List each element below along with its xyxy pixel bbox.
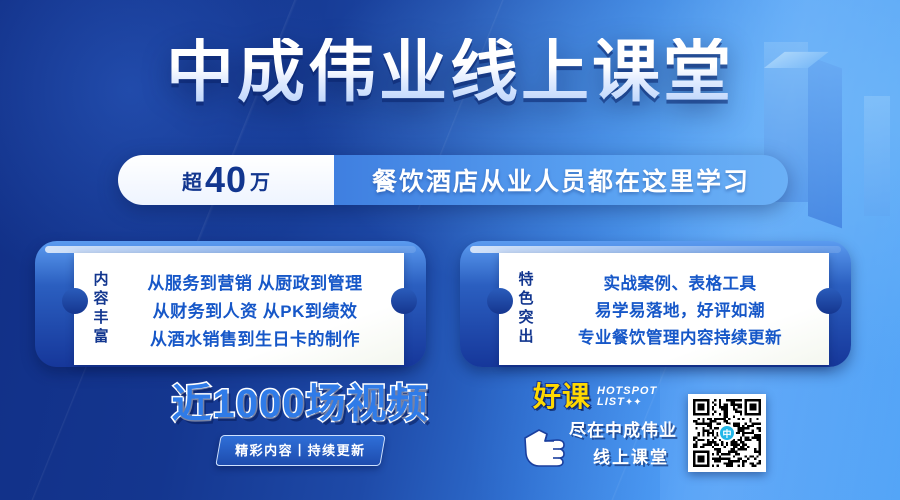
logo-line-2: 尽在中成伟业 (569, 416, 677, 441)
card-line: 从财务到人资 从PK到绩效 (153, 297, 358, 322)
tagline-pill: 精彩内容丨持续更新 (215, 435, 385, 466)
logo-line-3: 线上课堂 (593, 443, 669, 468)
card-label-char: 特 (518, 272, 533, 289)
card-label-char: 容 (93, 291, 108, 308)
card-lines: 实战案例、表格工具 易学易落地，好评如潮 专业餐饮管理内容持续更新 (539, 270, 821, 348)
card-label-char: 突 (518, 310, 533, 327)
student-count-pill: 超 40 万 (118, 155, 334, 205)
card-line: 专业餐饮管理内容持续更新 (578, 324, 782, 348)
count-unit: 万 (250, 166, 270, 195)
brand-latin-line1: HOTSPOT (597, 385, 657, 397)
qr-code[interactable]: 中 (688, 394, 766, 472)
tagline-text: 精彩内容丨持续更新 (235, 440, 366, 459)
card-label-char: 富 (93, 329, 108, 346)
subtitle-text: 餐饮酒店从业人员都在这里学习 (372, 162, 750, 198)
card-label-char: 出 (518, 329, 533, 346)
sparkle-icon: ✦✦ (625, 397, 642, 408)
promo-banner: 中成伟业线上课堂 超 40 万 餐饮酒店从业人员都在这里学习 内 容 丰 富 从… (0, 0, 900, 500)
brand-latin: HOTSPOT LIST✦✦ (597, 386, 657, 411)
qr-center-logo: 中 (718, 424, 736, 442)
brand-text: 好课 (533, 383, 591, 411)
feature-card-content: 内 容 丰 富 从服务到营销 从厨政到管理 从财务到人资 从PK到绩效 从酒水销… (38, 245, 423, 367)
subtitle-bar: 超 40 万 餐饮酒店从业人员都在这里学习 (118, 155, 788, 205)
brand-latin-line2: LIST (597, 396, 625, 408)
decorative-3d-block (864, 96, 890, 216)
card-label-char: 色 (518, 291, 533, 308)
card-label-char: 丰 (93, 310, 108, 327)
card-line: 从服务到营销 从厨政到管理 (147, 269, 362, 294)
title-text: 中成伟业线上课堂 (166, 38, 734, 106)
video-count-highlight: 近1000场视频 精彩内容丨持续更新 (150, 384, 450, 466)
card-line: 实战案例、表格工具 (604, 270, 757, 294)
course-logo-lockup: 好课 HOTSPOT LIST✦✦ 尽在中成伟业 线上课堂 (525, 383, 675, 475)
count-number: 40 (202, 162, 250, 198)
page-title: 中成伟业线上课堂 (0, 38, 900, 106)
feature-card-highlights: 特 色 突 出 实战案例、表格工具 易学易落地，好评如潮 专业餐饮管理内容持续更… (463, 245, 848, 367)
card-label-char: 内 (93, 272, 108, 289)
pointing-hand-icon (523, 416, 569, 468)
video-count-headline: 近1000场视频 (150, 384, 450, 424)
card-lines: 从服务到营销 从厨政到管理 从财务到人资 从PK到绩效 从酒水销售到生日卡的制作 (114, 269, 396, 350)
subtitle-message: 餐饮酒店从业人员都在这里学习 (334, 155, 788, 205)
card-label: 内 容 丰 富 (88, 272, 114, 345)
card-label: 特 色 突 出 (513, 272, 539, 345)
count-prefix: 超 (182, 166, 202, 195)
card-line: 从酒水销售到生日卡的制作 (150, 325, 360, 350)
card-line: 易学易落地，好评如潮 (595, 297, 765, 321)
